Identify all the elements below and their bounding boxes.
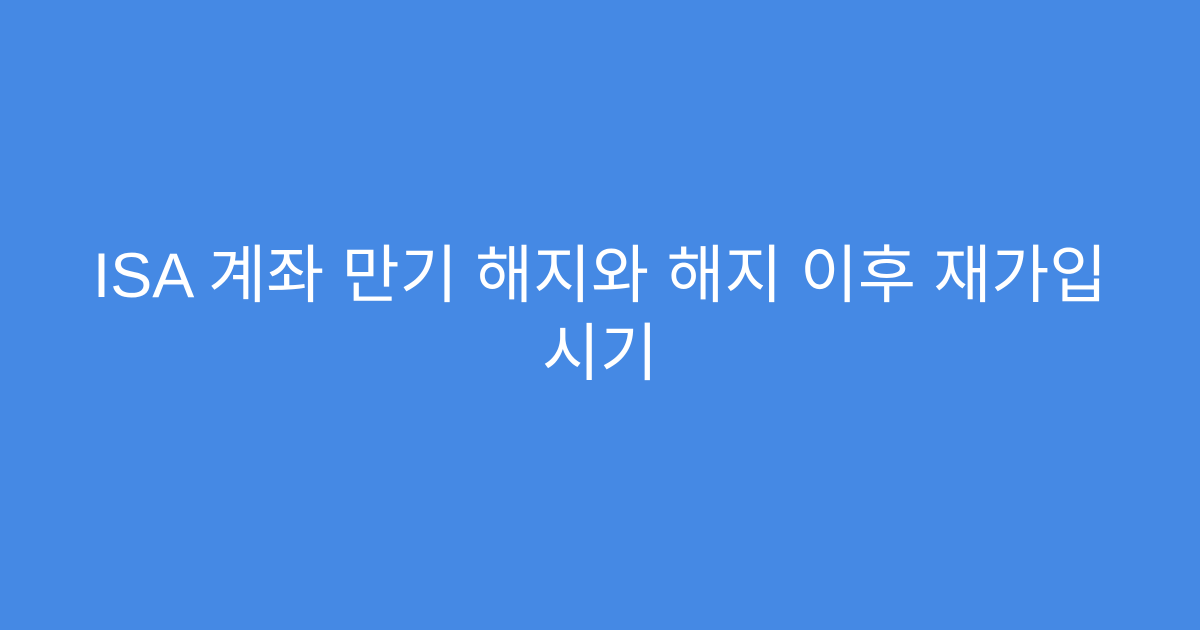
card-content-wrapper: ISA 계좌 만기 해지와 해지 이후 재가입 시기 <box>70 237 1130 393</box>
page-title: ISA 계좌 만기 해지와 해지 이후 재가입 시기 <box>70 237 1130 393</box>
social-share-card: ISA 계좌 만기 해지와 해지 이후 재가입 시기 <box>0 0 1200 630</box>
